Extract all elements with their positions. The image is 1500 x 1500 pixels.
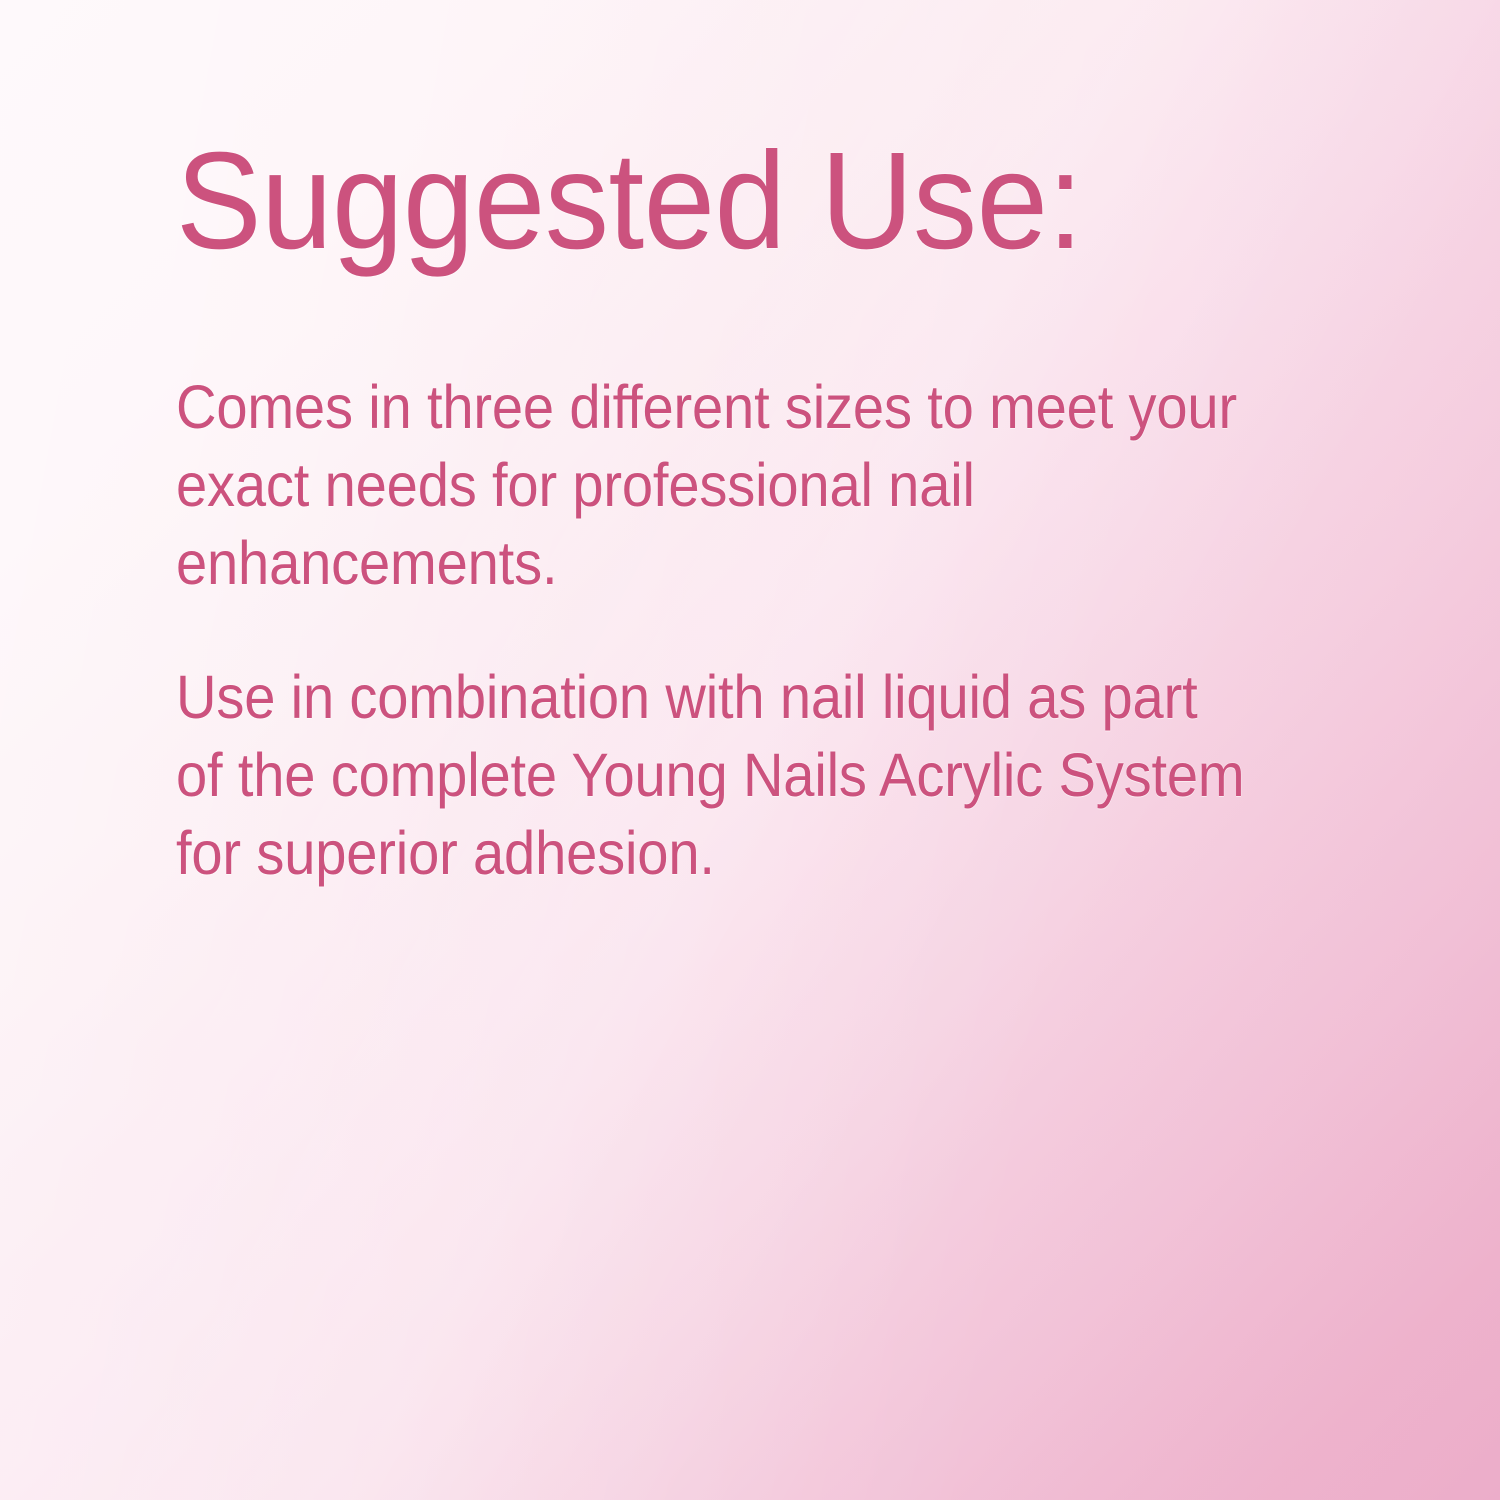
suggested-use-panel: Suggested Use: Comes in three different …	[0, 0, 1500, 1500]
description-paragraph-sizes: Comes in three different sizes to meet y…	[176, 368, 1252, 602]
page-title: Suggested Use:	[176, 132, 1083, 270]
description-paragraph-usage: Use in combination with nail liquid as p…	[176, 658, 1252, 892]
